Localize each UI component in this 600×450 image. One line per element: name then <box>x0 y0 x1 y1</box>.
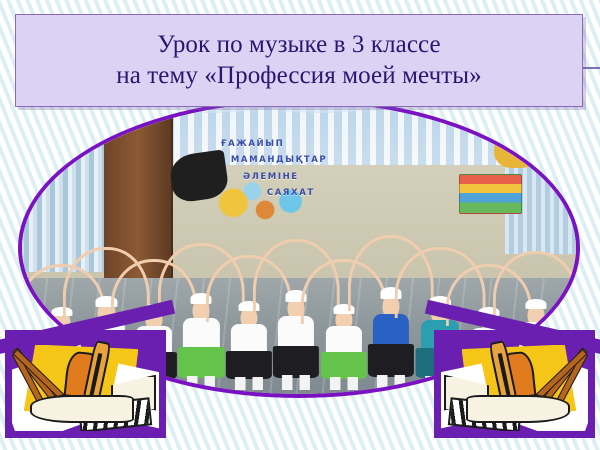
clipart-frame-left <box>5 330 166 438</box>
stage-banner-text: ҒАЖАЙЫП МАМАНДЫҚТАР ӘЛЕМІНЕ САЯХАТ <box>221 136 511 202</box>
slide-title-line-1: Урок по музыке в 3 классе <box>116 30 482 61</box>
trumpet-icon <box>466 395 570 423</box>
stage-banner-line-2: МАМАНДЫҚТАР <box>231 152 511 169</box>
musical-instruments-icon <box>441 337 588 431</box>
stage-banner-line-4: САЯХАТ <box>267 185 511 202</box>
slide-title-line-2: на тему «Профессия моей мечты» <box>116 61 482 92</box>
musical-instruments-icon <box>12 337 159 431</box>
slide-title-plate: Урок по музыке в 3 классе на тему «Профе… <box>15 14 583 107</box>
trumpet-icon <box>30 395 134 423</box>
clipart-frame-right <box>434 330 595 438</box>
stage-banner-line-3: ӘЛЕМІНЕ <box>243 169 511 186</box>
stage-banner-line-1: ҒАЖАЙЫП <box>221 136 511 153</box>
slide-title: Урок по музыке в 3 классе на тему «Профе… <box>106 30 492 91</box>
presentation-slide: ҒАЖАЙЫП МАМАНДЫҚТАР ӘЛЕМІНЕ САЯХАТ <box>0 0 600 450</box>
